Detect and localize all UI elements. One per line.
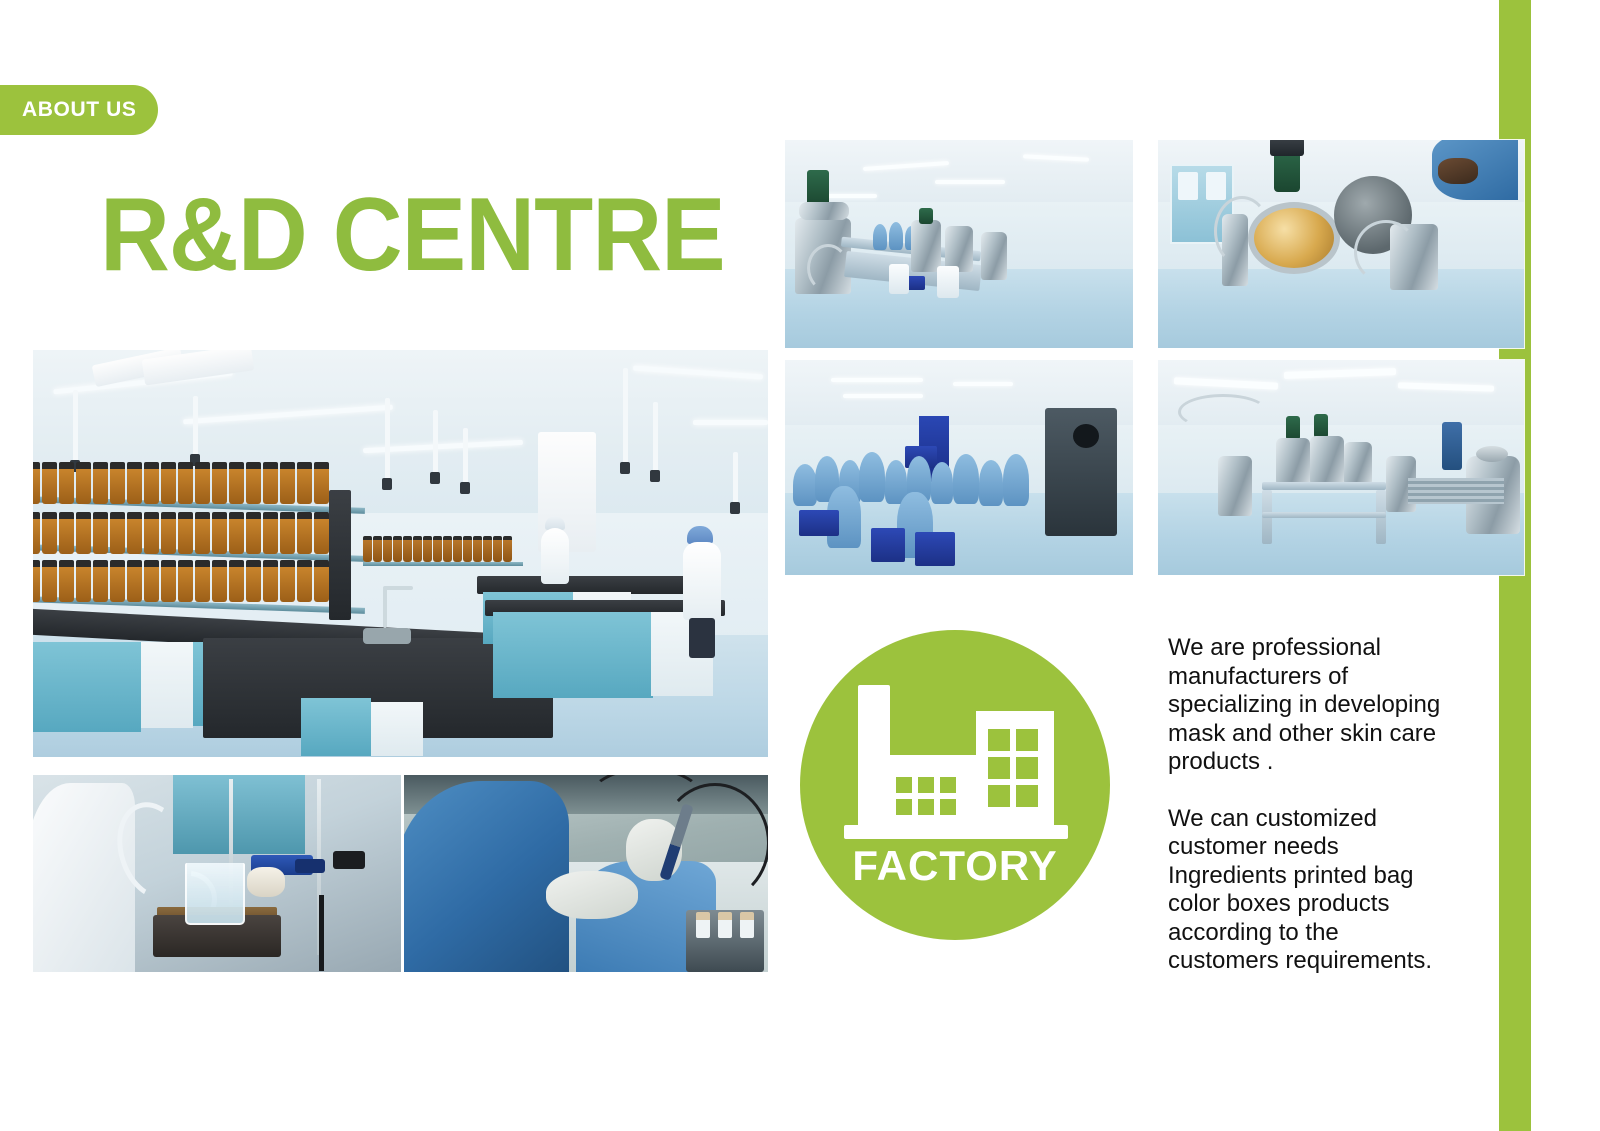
rd-laboratory-photo bbox=[33, 350, 768, 757]
pipetting-technician-photo bbox=[404, 775, 768, 972]
mixing-vessel-photo bbox=[1158, 140, 1524, 348]
factory-badge-label: FACTORY bbox=[800, 842, 1110, 890]
page-title: R&D CENTRE bbox=[100, 183, 725, 287]
about-paragraph-2: We can customized customer needs Ingredi… bbox=[1168, 805, 1446, 976]
storage-tanks-photo bbox=[1158, 360, 1524, 575]
factory-icon bbox=[848, 685, 1064, 845]
about-us-badge: ABOUT US bbox=[0, 85, 158, 135]
about-paragraph-1: We are professional manufacturers of spe… bbox=[1168, 634, 1446, 777]
assembly-workers-photo bbox=[785, 360, 1133, 575]
about-us-page: ABOUT US R&D CENTRE bbox=[0, 0, 1600, 1131]
factory-badge: FACTORY bbox=[800, 630, 1110, 940]
beaker-heating-plate-photo bbox=[33, 775, 401, 972]
about-copy: We are professional manufacturers of spe… bbox=[1168, 634, 1446, 976]
about-us-badge-label: ABOUT US bbox=[22, 98, 136, 122]
production-line-photo bbox=[785, 140, 1133, 348]
